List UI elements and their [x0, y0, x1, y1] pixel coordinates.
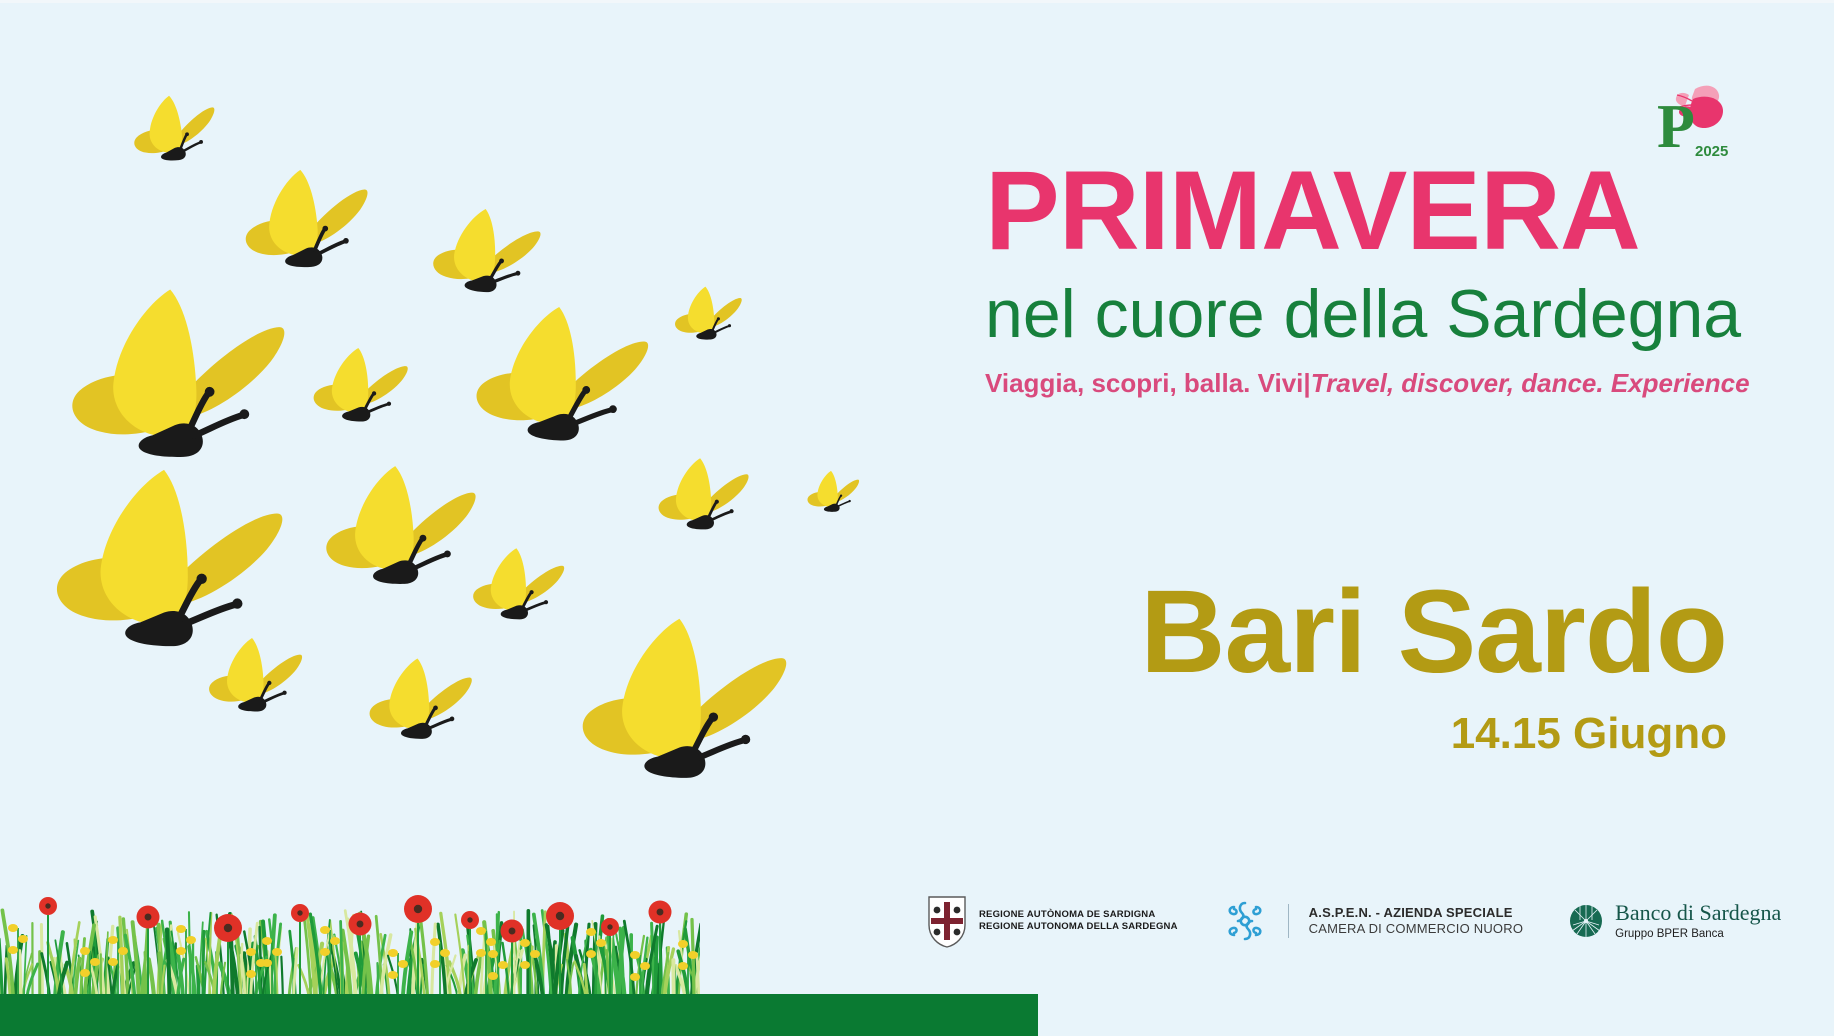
butterfly-decoration-field: [0, 3, 1060, 963]
tagline-italian: Viaggia, scopri, balla. Vivi: [985, 368, 1303, 398]
sponsor-banco-di-sardegna: Banco di Sardegna Gruppo BPER Banca: [1567, 901, 1781, 941]
butterfly-icon: [470, 543, 566, 627]
butterfly-icon: [236, 159, 376, 282]
poster-canvas: P 2025 PRIMAVERA nel cuore della Sardegn…: [0, 0, 1834, 1036]
butterfly-icon: [469, 296, 654, 455]
sponsor-aspen-line1: A.S.P.E.N. - AZIENDA SPECIALE: [1309, 905, 1523, 921]
primavera-logo-mark: P 2025: [1643, 81, 1729, 161]
event-details-block: Bari Sardo 14.15 Giugno: [987, 573, 1727, 759]
sponsor-banco-line2: Gruppo BPER Banca: [1615, 927, 1781, 941]
sponsor-regione-autonoma-sardegna: REGIONE AUTÒNOMA DE SARDIGNA REGIONE AUT…: [925, 893, 1178, 949]
butterfly-icon: [59, 274, 296, 478]
butterfly-icon: [364, 652, 476, 748]
event-dates: 14.15 Giugno: [987, 709, 1727, 759]
event-place-name: Bari Sardo: [987, 573, 1727, 691]
butterfly-icon: [804, 467, 862, 518]
sponsor-aspen-camera-commercio-nuoro: A.S.P.E.N. - AZIENDA SPECIALE CAMERA DI …: [1222, 897, 1523, 945]
butterfly-icon: [428, 201, 543, 303]
banco-sardegna-circle-icon: [1567, 901, 1605, 941]
butterfly-icon: [48, 458, 288, 664]
aspen-knot-icon: [1222, 897, 1268, 945]
sponsor-banco-line1: Banco di Sardegna: [1615, 901, 1781, 924]
sponsor-logo-row: REGIONE AUTÒNOMA DE SARDIGNA REGIONE AUT…: [925, 883, 1755, 959]
ground-band: [0, 994, 1038, 1036]
content-column: P 2025 PRIMAVERA nel cuore della Sardegn…: [985, 3, 1745, 1036]
headline-secondary: nel cuore della Sardegna: [985, 280, 1745, 348]
sardinia-coat-of-arms-icon: [925, 893, 969, 949]
butterfly-icon: [575, 608, 791, 794]
sponsor-aspen-line2: CAMERA DI COMMERCIO NUORO: [1309, 921, 1523, 937]
butterfly-icon: [318, 455, 483, 598]
sponsor-regione-line1: REGIONE AUTÒNOMA DE SARDIGNA: [979, 909, 1178, 921]
butterfly-icon: [654, 451, 753, 538]
headline-primary: PRIMAVERA: [985, 158, 1745, 264]
tagline: Viaggia, scopri, balla. Vivi|Travel, dis…: [985, 368, 1745, 399]
butterfly-icon: [310, 343, 410, 429]
flower-meadow-decoration: [0, 880, 700, 1000]
tagline-separator: |: [1303, 368, 1310, 398]
aspen-divider: [1288, 904, 1289, 938]
butterfly-icon: [204, 631, 307, 720]
tagline-english: Travel, discover, dance. Experience: [1311, 368, 1750, 398]
logo-letter: P: [1657, 93, 1695, 161]
sponsor-regione-line2: REGIONE AUTONOMA DELLA SARDEGNA: [979, 921, 1178, 933]
butterfly-icon: [670, 281, 745, 347]
butterfly-icon: [126, 87, 221, 172]
headline-block: PRIMAVERA nel cuore della Sardegna Viagg…: [985, 158, 1745, 399]
